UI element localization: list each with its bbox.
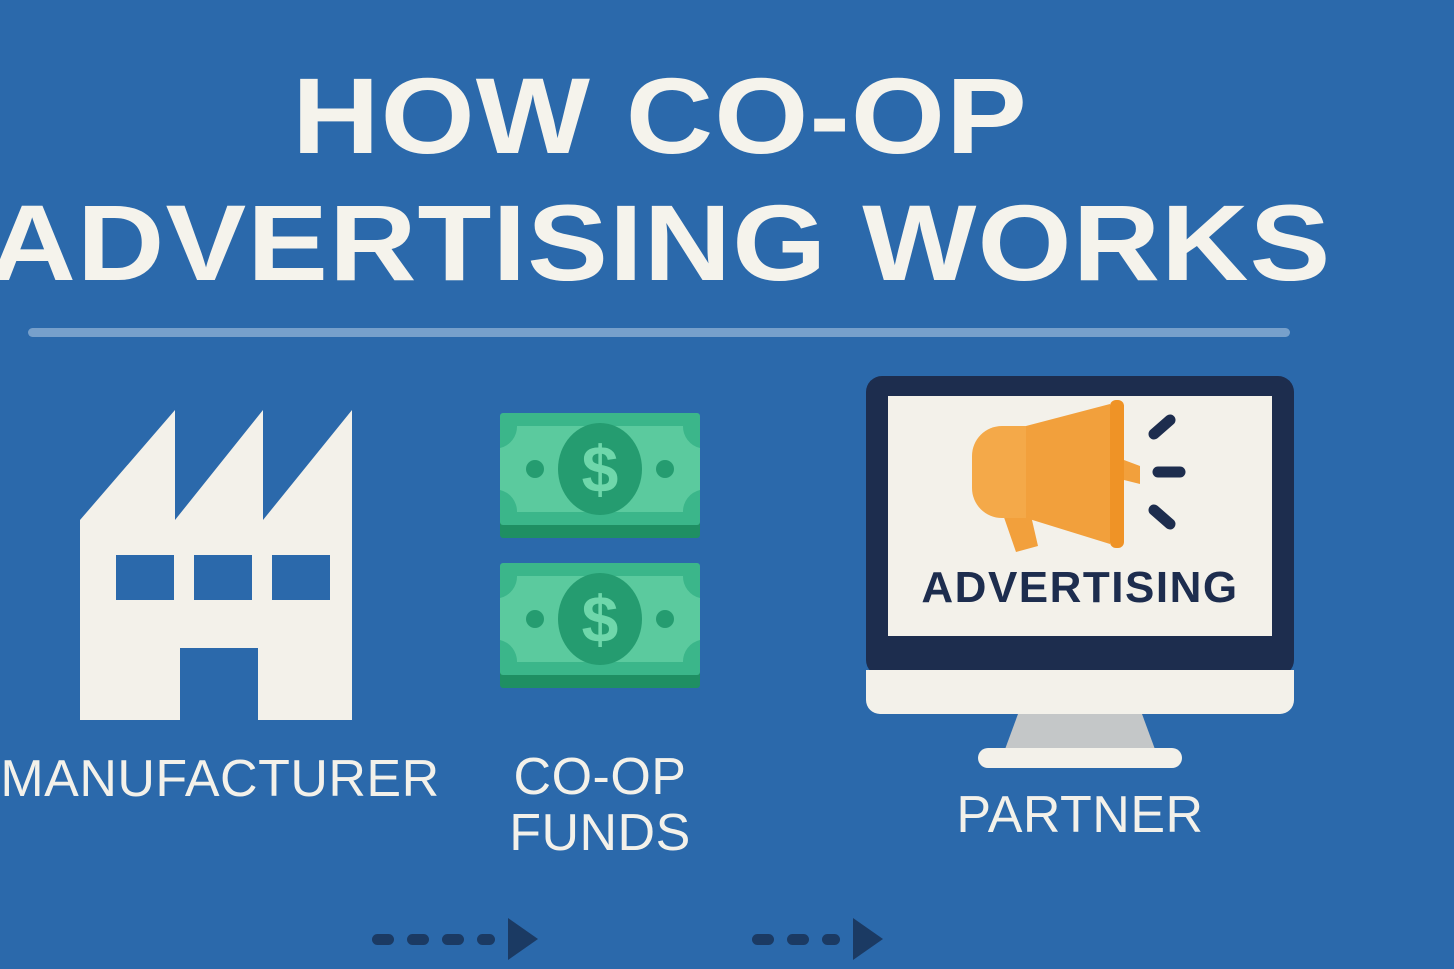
arrow-head-icon: [508, 918, 538, 960]
monitor-chin: [866, 670, 1294, 714]
flow-node-partner: ADVERTISING PARTNER: [780, 370, 1380, 844]
flow-node-manufacturer-label: MANUFACTURER: [0, 752, 440, 808]
arrow-dash: [372, 934, 394, 945]
arrow-dash: [407, 934, 429, 945]
banknote-top: [500, 413, 700, 538]
arrow-dash: [442, 934, 464, 945]
flow-node-partner-label: PARTNER: [780, 788, 1380, 844]
factory-icon: [70, 400, 370, 730]
title-line-1: HOW CO-OP: [0, 52, 1399, 179]
monitor-stand-base: [978, 748, 1182, 768]
factory-icon-wrap: [0, 370, 440, 730]
monitor-stand-neck: [1004, 714, 1156, 752]
desktop-monitor-icon-wrap: ADVERTISING: [780, 370, 1380, 780]
arrow-head-icon: [853, 918, 883, 960]
desktop-monitor-icon: ADVERTISING: [860, 370, 1300, 770]
arrow-dash: [752, 934, 774, 945]
arrow-dash: [822, 934, 840, 945]
title-line-2: ADVERTISING WORKS: [0, 179, 1399, 306]
monitor-screen-text: ADVERTISING: [921, 563, 1238, 612]
arrow-dash: [477, 934, 495, 945]
flow-connector-manufacturer-to-funds: [372, 918, 538, 960]
flow-node-coop-funds-label: CO-OP FUNDS: [440, 750, 760, 861]
flow-node-manufacturer: MANUFACTURER: [0, 370, 440, 808]
infographic-canvas: HOW CO-OP ADVERTISING WORKS MANUFACTURER: [0, 0, 1454, 969]
money-stack-icon: $: [495, 400, 705, 700]
banknote-bottom: [500, 563, 700, 688]
title-divider-rule: [28, 328, 1290, 337]
flow-connector-funds-to-partner: [752, 918, 883, 960]
arrow-dash: [787, 934, 809, 945]
page-title: HOW CO-OP ADVERTISING WORKS: [0, 52, 1320, 307]
flow-node-coop-funds: $ CO-OP FUNDS: [440, 370, 760, 861]
flow-diagram: MANUFACTURER: [0, 370, 1454, 910]
money-stack-icon-wrap: $: [440, 370, 760, 730]
